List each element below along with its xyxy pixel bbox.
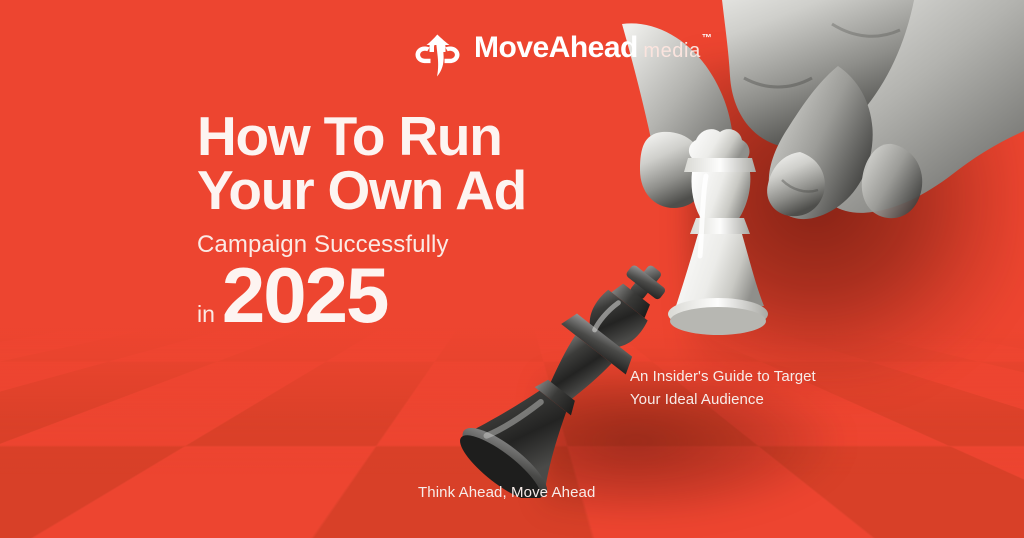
page-title: How To Run Your Own Ad [197,110,617,218]
brand-logo[interactable]: MoveAhead ™ media [410,30,701,86]
hero-caption: An Insider's Guide to Target Your Ideal … [630,365,860,412]
chessboard-floor [0,328,1024,538]
cloud-arrow-icon [410,30,465,80]
hand-cast-shadow [690,60,1020,390]
hero-copy: How To Run Your Own Ad Campaign Successf… [197,110,617,332]
hero-year-prefix: in [197,303,222,326]
brand-wordmark: MoveAhead ™ media [474,30,701,63]
floor-fade-overlay [0,328,1024,538]
hero-year-row: in 2025 [197,260,617,332]
brand-tagline: Think Ahead, Move Ahead [418,484,595,501]
brand-subtitle: media [643,40,700,62]
hero-year: 2025 [222,260,388,332]
promo-banner: MoveAhead ™ media How To Run Your Own Ad… [0,0,1024,538]
brand-name: MoveAhead [474,31,638,64]
trademark-symbol: ™ [702,34,712,44]
